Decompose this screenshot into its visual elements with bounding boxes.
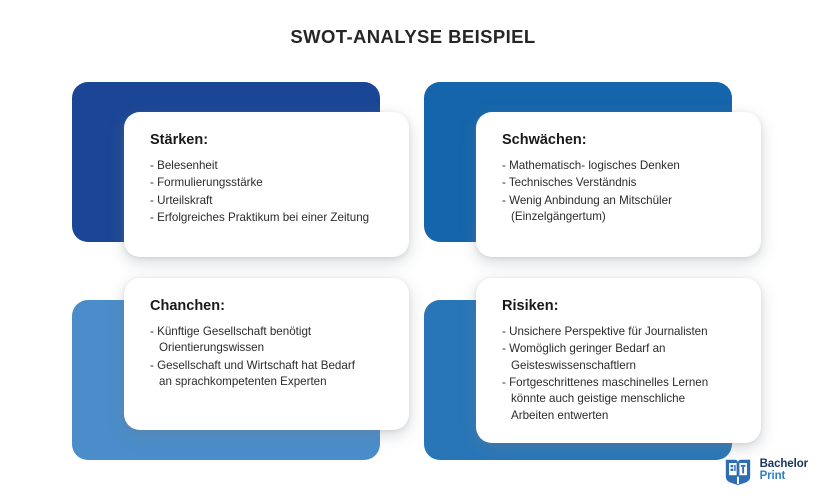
quadrant-card-risks: Risiken: - Unsichere Perspektive für Jou… bbox=[476, 278, 761, 443]
list-item: - Gesellschaft und Wirtschaft hat Bedarf… bbox=[150, 358, 391, 391]
quadrant-list-risks: - Unsichere Perspektive für Journalisten… bbox=[502, 324, 743, 425]
quadrant-heading-strengths: Stärken: bbox=[150, 132, 391, 149]
swot-grid: Stärken: - Belesenheit - Formulierungsst… bbox=[0, 0, 826, 500]
bachelorprint-logo: Bachelor Print bbox=[723, 456, 808, 486]
list-item: - Urteilskraft bbox=[150, 193, 391, 209]
swot-quadrant-weaknesses: Schwächen: - Mathematisch- logisches Den… bbox=[424, 82, 754, 264]
open-book-shield-icon bbox=[723, 456, 753, 486]
list-item: - Fortgeschrittenes maschinelles Lernen … bbox=[502, 375, 743, 424]
quadrant-heading-weaknesses: Schwächen: bbox=[502, 132, 743, 149]
swot-quadrant-opportunities: Chanchen: - Künftige Gesellschaft benöti… bbox=[72, 278, 402, 460]
list-item: - Mathematisch- logisches Denken bbox=[502, 158, 743, 174]
quadrant-list-opportunities: - Künftige Gesellschaft benötigt Orienti… bbox=[150, 324, 391, 391]
list-item: - Formulierungsstärke bbox=[150, 175, 391, 191]
list-item: - Künftige Gesellschaft benötigt Orienti… bbox=[150, 324, 391, 357]
quadrant-card-opportunities: Chanchen: - Künftige Gesellschaft benöti… bbox=[124, 278, 409, 430]
logo-wordmark: Bachelor Print bbox=[760, 459, 808, 482]
list-item: - Technisches Verständnis bbox=[502, 175, 743, 191]
list-item: - Unsichere Perspektive für Journalisten bbox=[502, 324, 743, 340]
list-item: - Erfolgreiches Praktikum bei einer Zeit… bbox=[150, 210, 391, 226]
quadrant-list-weaknesses: - Mathematisch- logisches Denken - Techn… bbox=[502, 158, 743, 226]
quadrant-card-weaknesses: Schwächen: - Mathematisch- logisches Den… bbox=[476, 112, 761, 257]
swot-quadrant-risks: Risiken: - Unsichere Perspektive für Jou… bbox=[424, 278, 754, 460]
logo-line-print: Print bbox=[760, 471, 808, 483]
list-item: - Wenig Anbindung an Mitschüler (Einzelg… bbox=[502, 193, 743, 226]
list-item: - Belesenheit bbox=[150, 158, 391, 174]
quadrant-heading-opportunities: Chanchen: bbox=[150, 298, 391, 315]
list-item: - Womöglich geringer Bedarf an Geisteswi… bbox=[502, 341, 743, 374]
quadrant-heading-risks: Risiken: bbox=[502, 298, 743, 315]
quadrant-card-strengths: Stärken: - Belesenheit - Formulierungsst… bbox=[124, 112, 409, 257]
quadrant-list-strengths: - Belesenheit - Formulierungsstärke - Ur… bbox=[150, 158, 391, 227]
swot-quadrant-strengths: Stärken: - Belesenheit - Formulierungsst… bbox=[72, 82, 402, 264]
